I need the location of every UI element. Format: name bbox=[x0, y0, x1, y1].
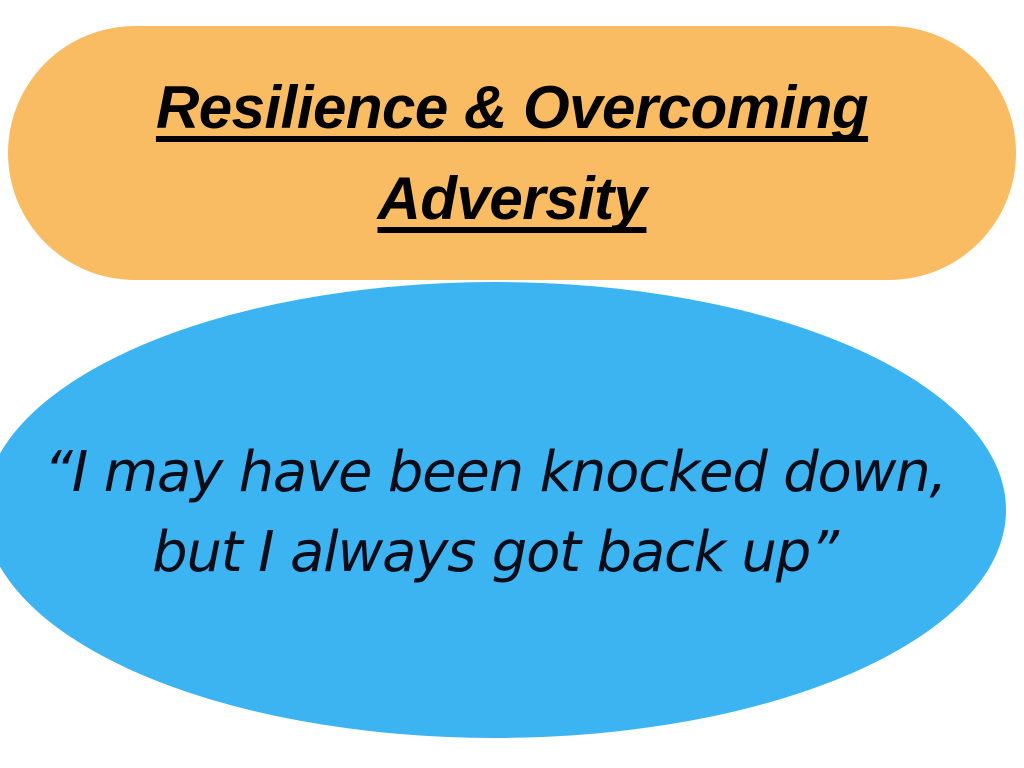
page-title: Resilience & Overcoming Adversity bbox=[156, 62, 868, 244]
slide-canvas: Resilience & Overcoming Adversity “I may… bbox=[0, 0, 1024, 768]
quote-ellipse: “I may have been knocked down, but I alw… bbox=[0, 282, 1006, 738]
quote-text: “I may have been knocked down, but I alw… bbox=[15, 433, 975, 592]
title-banner: Resilience & Overcoming Adversity bbox=[8, 26, 1016, 280]
